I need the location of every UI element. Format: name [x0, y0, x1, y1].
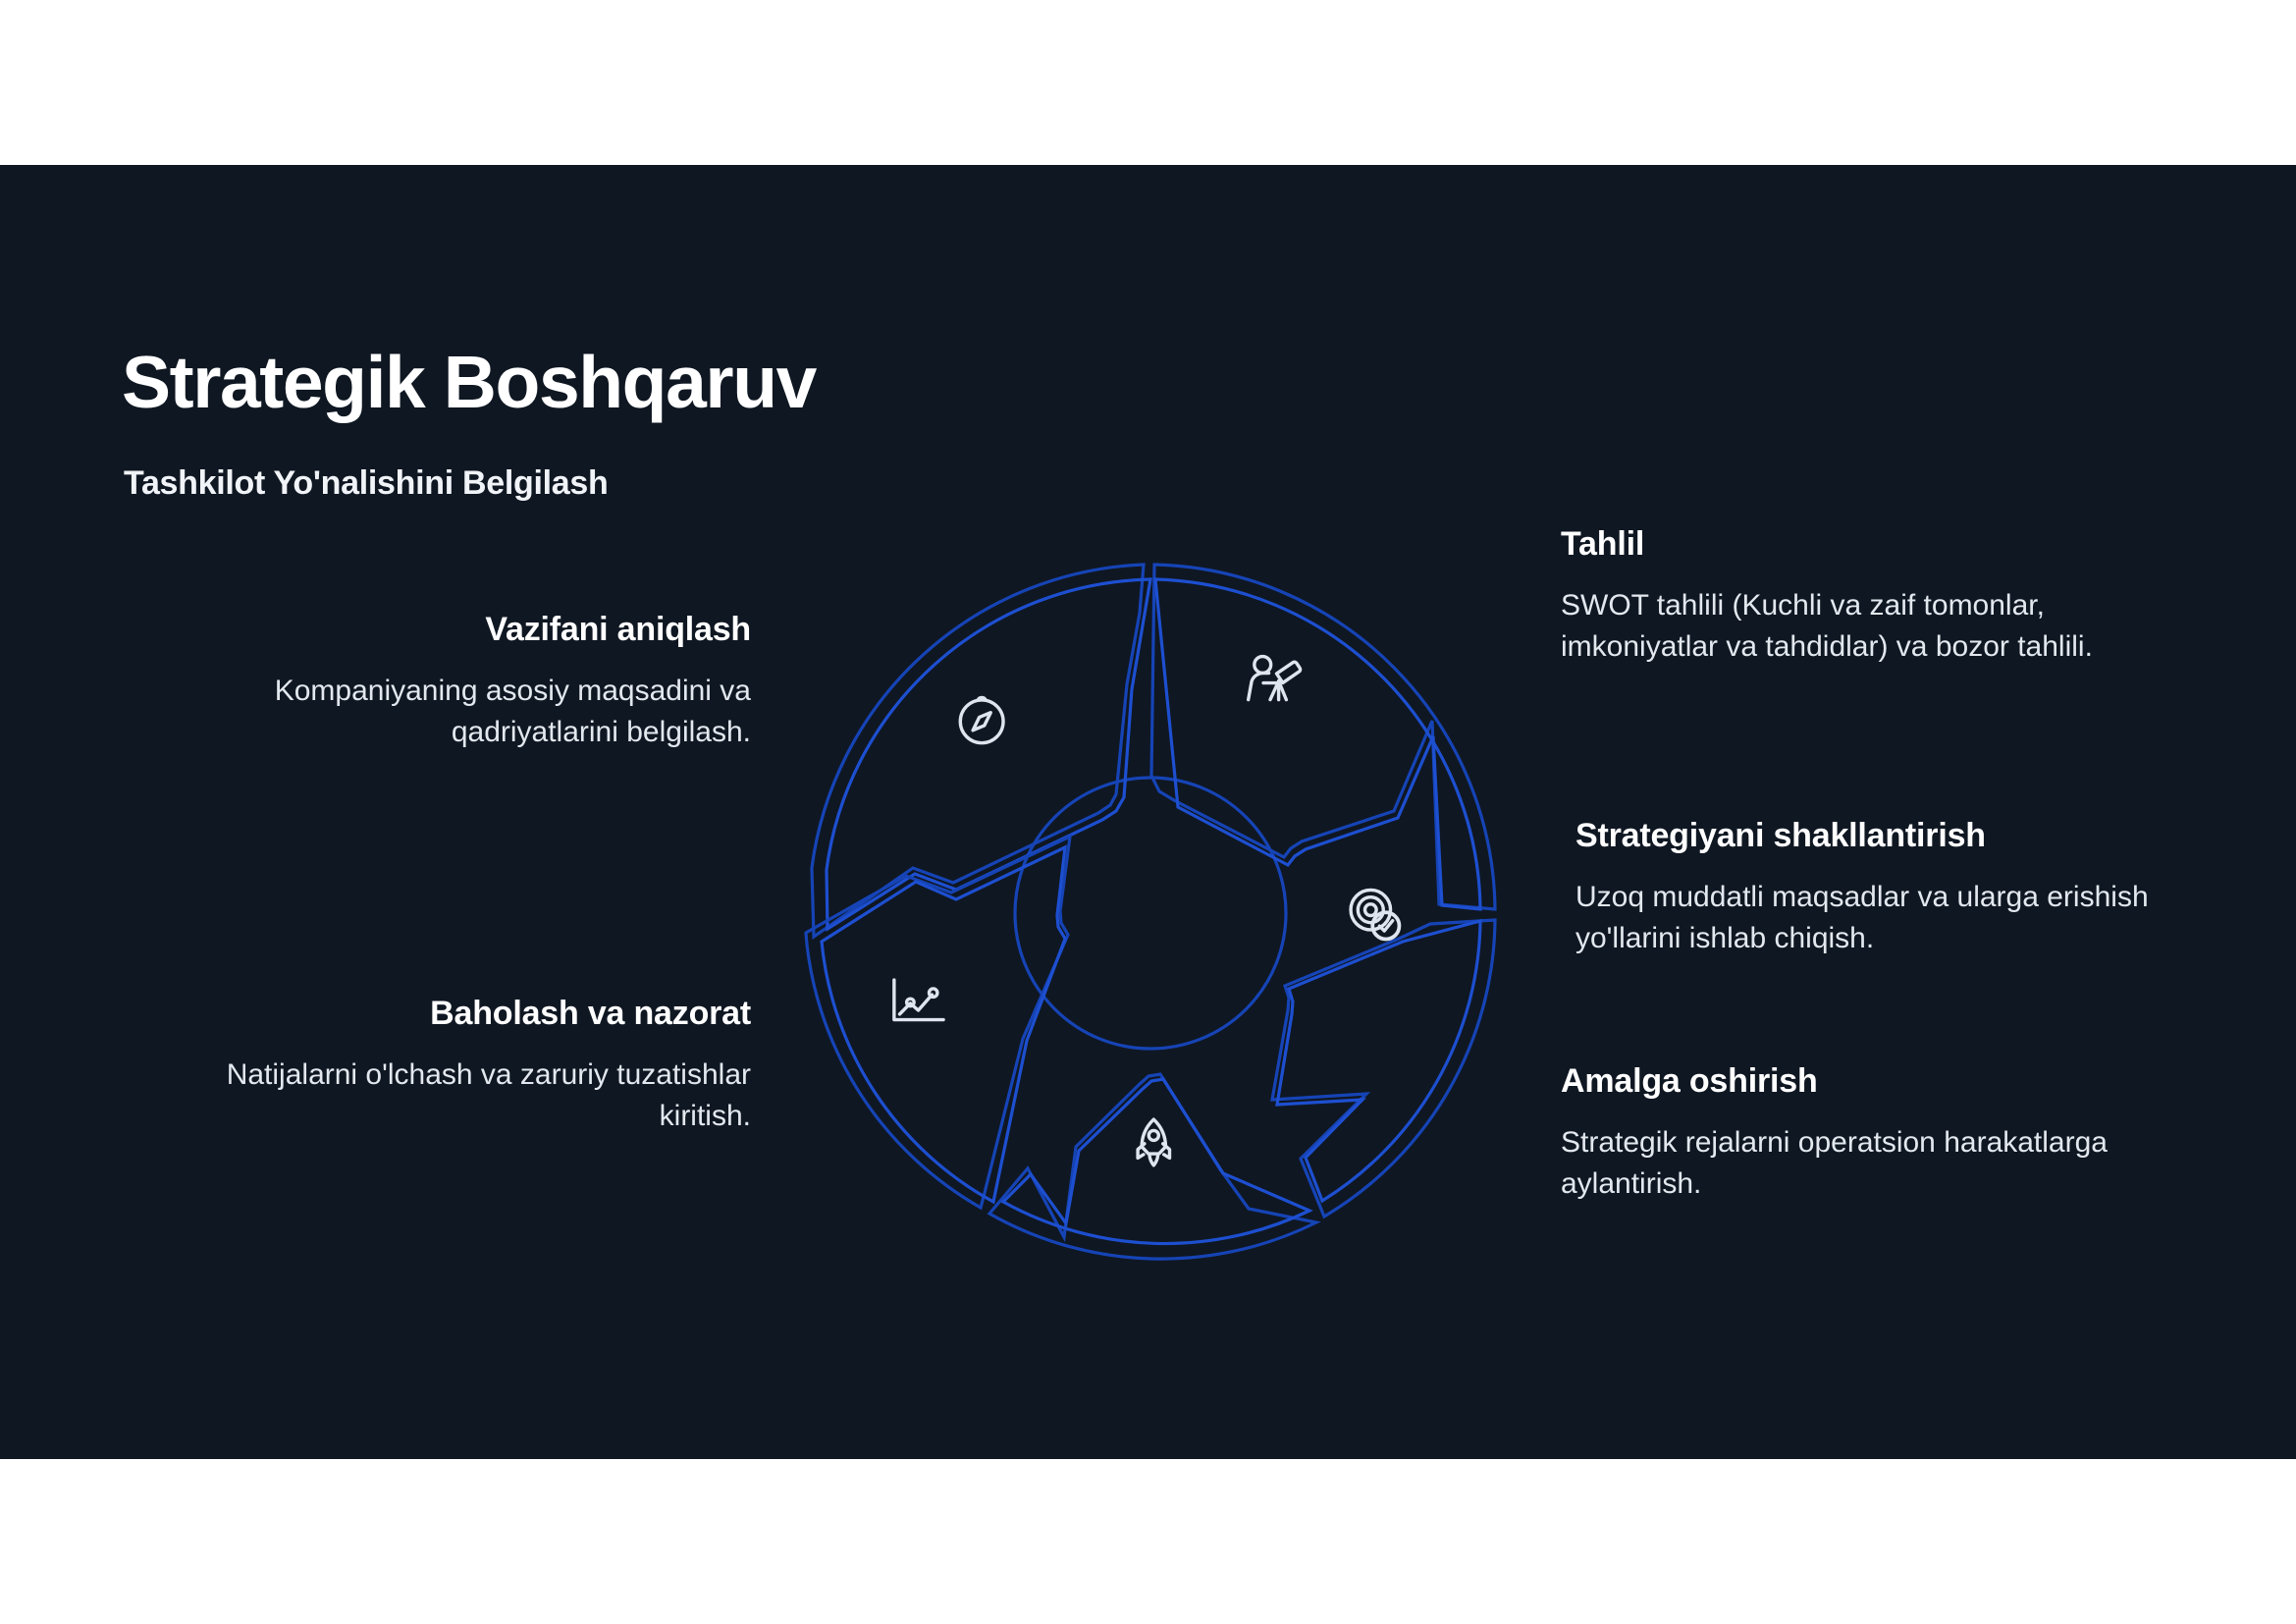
diagram-segment-2 — [1151, 565, 1495, 909]
list-item-amalga-oshirish: Amalga oshirish Strategik rejalarni oper… — [1561, 1060, 2150, 1206]
diagram-segment-3 — [1272, 920, 1495, 1217]
line-chart-icon — [894, 980, 943, 1020]
diagram-hub — [1015, 778, 1286, 1049]
item-title: Tahlil — [1561, 523, 2150, 566]
page-root: Strategik Boshqaruv Tashkilot Yo'nalishi… — [0, 0, 2296, 1624]
page-title: Strategik Boshqaruv — [122, 344, 816, 421]
item-title: Vazifani aniqlash — [162, 609, 751, 651]
cycle-diagram — [781, 544, 1520, 1282]
item-body: Uzoq muddatli maqsadlar va ularga erishi… — [1575, 877, 2164, 960]
target-check-icon — [1351, 890, 1399, 939]
item-body: Strategik rejalarni operatsion harakatla… — [1561, 1122, 2150, 1206]
item-body: SWOT tahlili (Kuchli va zaif tomonlar, i… — [1561, 585, 2150, 669]
item-title: Strategiyani shakllantirish — [1575, 815, 2164, 857]
list-item-strategiyani-shakllantirish: Strategiyani shakllantirish Uzoq muddatl… — [1575, 815, 2164, 960]
rocket-icon — [1138, 1119, 1169, 1165]
diagram-segment-1 — [812, 565, 1150, 937]
diagram-segment-5 — [806, 837, 1070, 1208]
item-body: Natijalarni o'lchash va zaruriy tuzatish… — [162, 1055, 751, 1138]
slide-canvas: Strategik Boshqaruv Tashkilot Yo'nalishi… — [0, 165, 2296, 1459]
page-subtitle: Tashkilot Yo'nalishini Belgilash — [124, 464, 608, 503]
list-item-tahlil: Tahlil SWOT tahlili (Kuchli va zaif tomo… — [1561, 523, 2150, 669]
list-item-baholash-va-nazorat: Baholash va nazorat Natijalarni o'lchash… — [162, 993, 751, 1138]
item-title: Amalga oshirish — [1561, 1060, 2150, 1103]
compass-icon — [960, 697, 1003, 742]
item-title: Baholash va nazorat — [162, 993, 751, 1035]
list-item-vazifani-aniqlash: Vazifani aniqlash Kompaniyaning asosiy m… — [162, 609, 751, 754]
item-body: Kompaniyaning asosiy maqsadini va qadriy… — [162, 671, 751, 754]
telescope-icon — [1249, 657, 1301, 700]
